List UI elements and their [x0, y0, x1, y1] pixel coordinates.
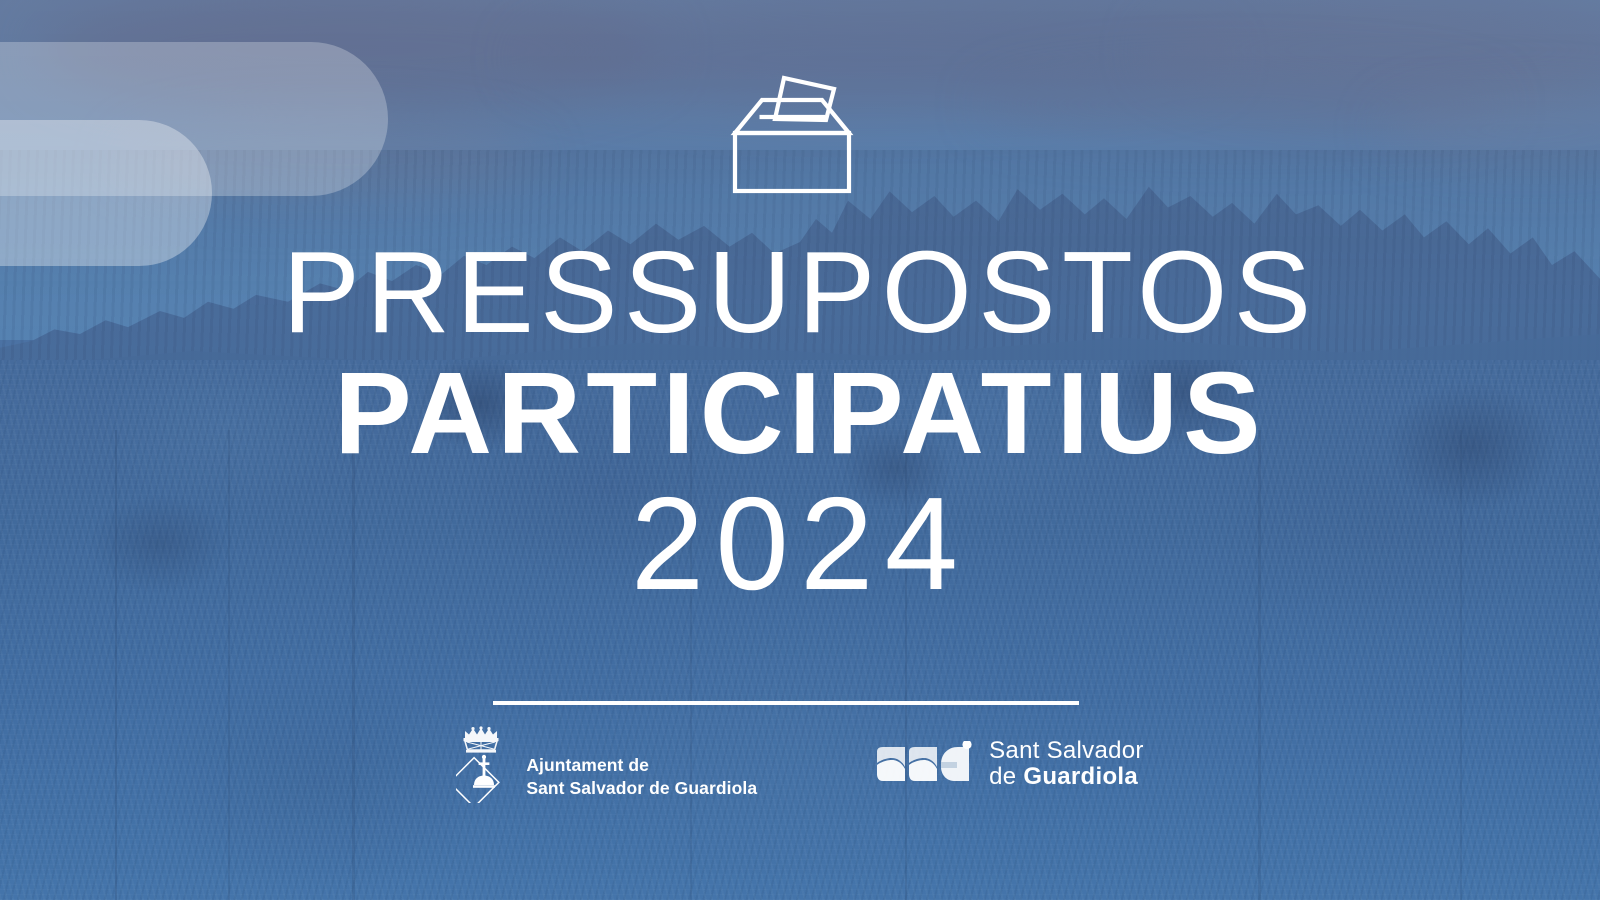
page-title-year: 2024 [0, 478, 1600, 610]
horizontal-divider [493, 701, 1079, 705]
ajuntament-line2: Sant Salvador de Guardiola [526, 778, 757, 798]
ajuntament-line1: Ajuntament de [526, 755, 649, 775]
ssg-monogram-icon [875, 741, 975, 787]
ssg-line2: de Guardiola [989, 764, 1144, 790]
ssg-logo-text: Sant Salvador de Guardiola [989, 738, 1144, 791]
poster-canvas: PRESSUPOSTOS PARTICIPATIUS 2024 [0, 0, 1600, 900]
ssg-line2-light: de [989, 763, 1023, 790]
page-title-line1: PRESSUPOSTOS [0, 236, 1600, 350]
ssg-logo: Sant Salvador de Guardiola [875, 738, 1144, 791]
page-title-line2: PARTICIPATIUS [0, 354, 1600, 472]
ajuntament-logo: Ajuntament de Sant Salvador de Guardiola [456, 725, 757, 803]
ssg-line1: Sant Salvador [989, 738, 1144, 764]
title-block: PRESSUPOSTOS PARTICIPATIUS 2024 [0, 236, 1600, 610]
ajuntament-logo-text: Ajuntament de Sant Salvador de Guardiola [526, 754, 757, 803]
ballot-box-icon [722, 62, 862, 202]
ajuntament-coat-of-arms-icon [456, 725, 512, 803]
ssg-line2-bold: Guardiola [1023, 763, 1138, 790]
logo-row: Ajuntament de Sant Salvador de Guardiola [0, 725, 1600, 803]
